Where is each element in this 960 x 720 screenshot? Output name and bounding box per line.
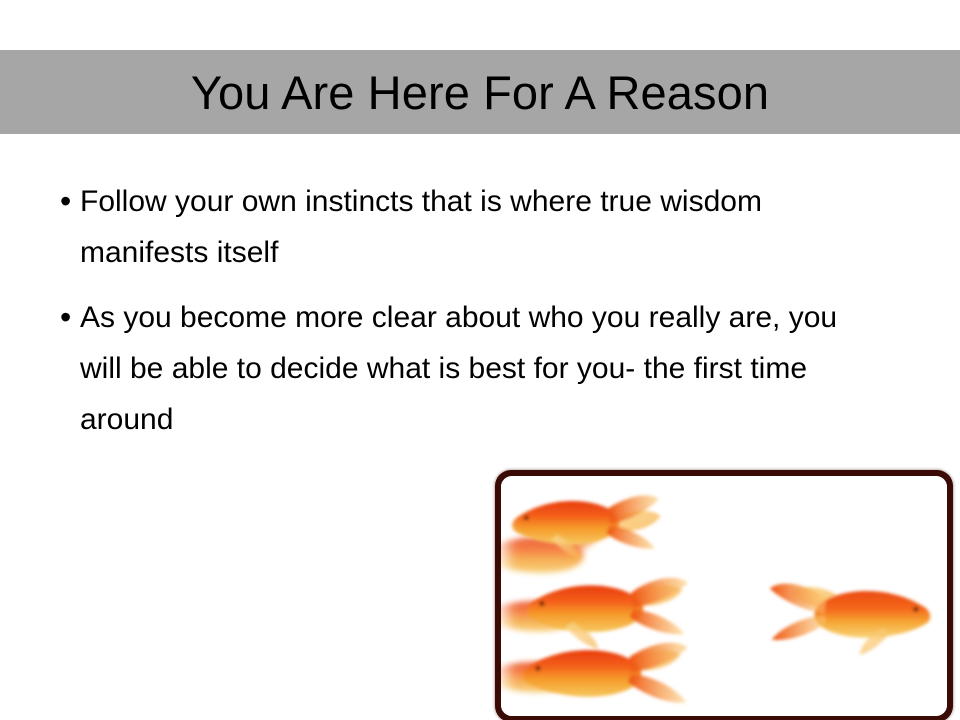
slide-body-content: • Follow your own instincts that is wher…: [52, 176, 892, 459]
presentation-slide: You Are Here For A Reason • Follow your …: [0, 0, 960, 720]
bullet-marker-icon: •: [52, 176, 80, 227]
slide-title: You Are Here For A Reason: [191, 69, 769, 116]
bullet-item: • Follow your own instincts that is wher…: [52, 176, 892, 278]
slide-title-band: You Are Here For A Reason: [0, 50, 960, 134]
goldfish-photo: [495, 470, 953, 720]
bullet-text: Follow your own instincts that is where …: [80, 176, 865, 278]
goldfish-photo-canvas: [501, 476, 947, 716]
bullet-text: As you become more clear about who you r…: [80, 292, 855, 445]
goldfish-illustration: [501, 476, 947, 716]
bullet-item: • As you become more clear about who you…: [52, 292, 892, 445]
bullet-marker-icon: •: [52, 292, 80, 343]
